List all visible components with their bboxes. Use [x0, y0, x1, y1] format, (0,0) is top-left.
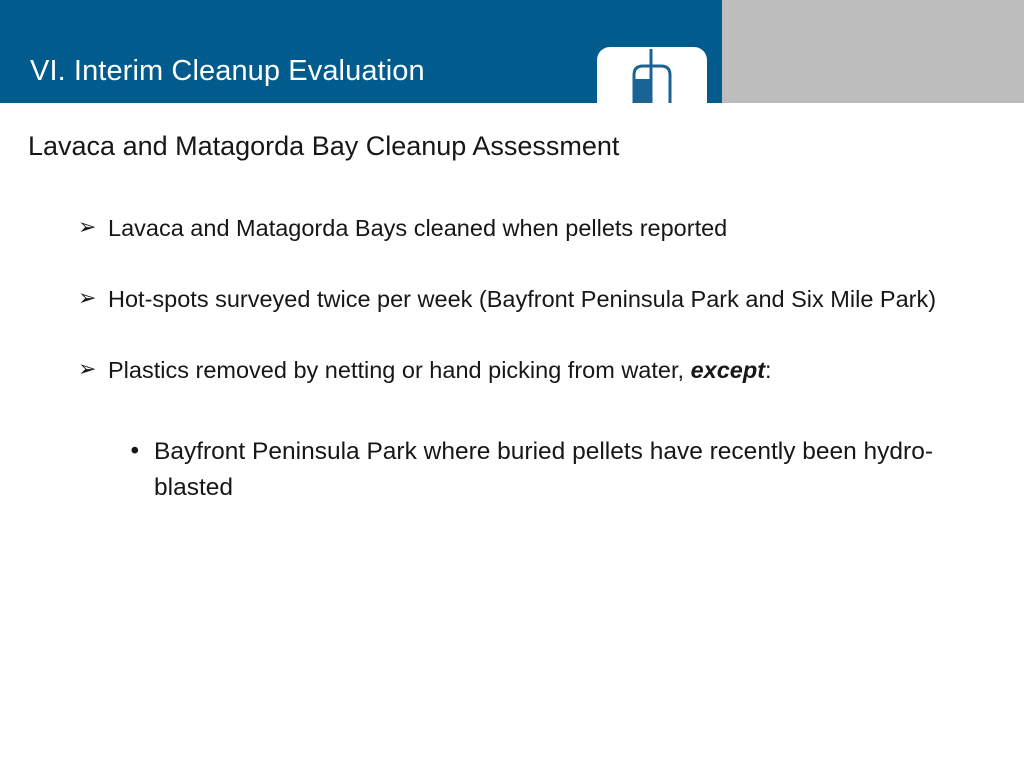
bullet-item-3: ➢ Plastics removed by netting or hand pi…: [0, 353, 1024, 387]
bullet-text-lead: Plastics removed by netting or hand pick…: [108, 357, 691, 383]
arrowhead-bullet-icon: ➢: [78, 282, 108, 316]
bullet-text: Hot-spots surveyed twice per week (Bayfr…: [108, 282, 974, 316]
bullet-text-trail: :: [765, 357, 772, 383]
header-grey-block: [722, 0, 1024, 103]
company-monogram-logo-icon: [625, 49, 679, 103]
arrowhead-bullet-icon: ➢: [78, 211, 108, 245]
bullet-text: Bayfront Peninsula Park where buried pel…: [154, 434, 984, 506]
bullet-text-emphasis: except: [691, 357, 765, 383]
logo-badge: [597, 47, 707, 103]
arrowhead-bullet-icon: ➢: [78, 353, 108, 387]
dot-bullet-icon: •: [128, 434, 154, 470]
bullet-item-1: ➢ Lavaca and Matagorda Bays cleaned when…: [0, 211, 1024, 245]
slide-header-band: VI. Interim Cleanup Evaluation: [0, 0, 1024, 103]
bullet-list: ➢ Lavaca and Matagorda Bays cleaned when…: [0, 211, 1024, 506]
bullet-text: Lavaca and Matagorda Bays cleaned when p…: [108, 211, 974, 245]
bullet-item-2: ➢ Hot-spots surveyed twice per week (Bay…: [0, 282, 1024, 316]
bullet-text: Plastics removed by netting or hand pick…: [108, 353, 974, 387]
section-heading: Lavaca and Matagorda Bay Cleanup Assessm…: [28, 129, 619, 163]
slide-canvas: VI. Interim Cleanup Evaluation Lavaca an…: [0, 0, 1024, 768]
slide-body: Lavaca and Matagorda Bay Cleanup Assessm…: [0, 103, 1024, 768]
bullet-item-4: • Bayfront Peninsula Park where buried p…: [0, 434, 1024, 506]
slide-title: VI. Interim Cleanup Evaluation: [30, 54, 425, 88]
